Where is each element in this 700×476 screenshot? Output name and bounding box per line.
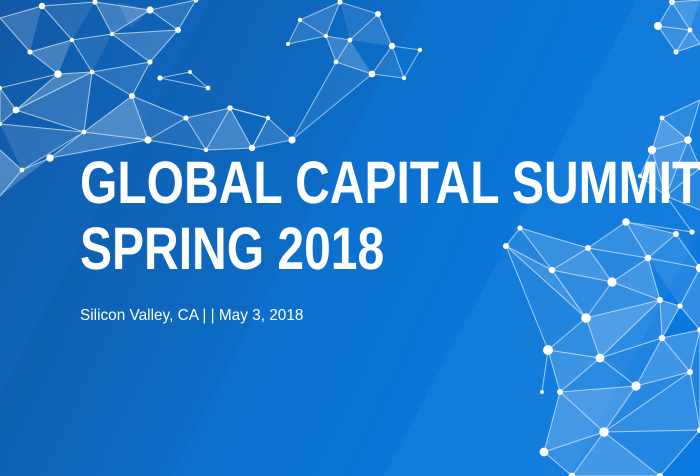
poster-title-line-2: SPRING 2018 — [80, 216, 560, 282]
mesh-cluster-upper-right — [654, 0, 700, 55]
mesh-cluster-center-small — [157, 70, 210, 90]
poster-text-block: GLOBAL CAPITAL SUMMIT SPRING 2018 Silico… — [80, 150, 680, 326]
event-poster: GLOBAL CAPITAL SUMMIT SPRING 2018 Silico… — [0, 0, 700, 476]
poster-subtitle: Silicon Valley, CA | | May 3, 2018 — [80, 306, 656, 326]
poster-title-line-1: GLOBAL CAPITAL SUMMIT — [80, 150, 560, 216]
